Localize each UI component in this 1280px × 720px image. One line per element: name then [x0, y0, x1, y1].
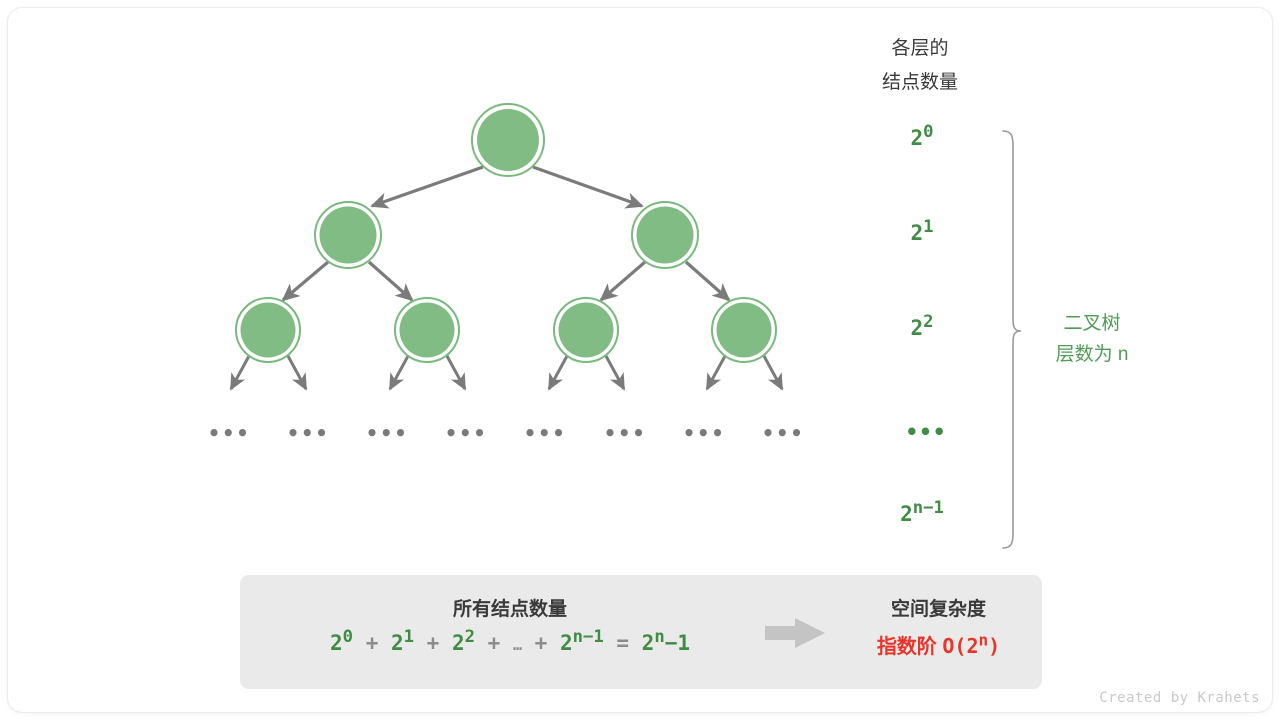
eq-plus-3: + [535, 631, 548, 655]
eq-result: 2n−1 [642, 631, 690, 655]
level-label-0: 20 [910, 126, 933, 150]
level-label-0-base: 2 [910, 126, 923, 150]
brace-note-line2: 层数为 n [1056, 339, 1129, 370]
leaf-ellipsis-2: ••• [366, 421, 409, 445]
complexity-bigo: O(2n) [942, 634, 1000, 658]
column-header-line1: 各层的 [852, 32, 988, 66]
eq-term-last: 2n−1 [560, 631, 604, 655]
column-header: 各层的 结点数量 [852, 32, 988, 100]
leaf-ellipsis-1: ••• [287, 421, 330, 445]
summary-complexity-value: 指数阶 O(2n) [835, 630, 1042, 659]
watermark-credit: Created by Krahets [1099, 690, 1260, 706]
level-label-1-base: 2 [910, 221, 923, 245]
eq-plus-1: + [427, 631, 440, 655]
level-label-2: 22 [910, 316, 933, 340]
summary-total-nodes-title: 所有结点数量 [240, 594, 780, 621]
level-label-2-exp: 2 [923, 312, 933, 332]
eq-plus-0: + [366, 631, 379, 655]
leaf-ellipsis-6: ••• [683, 421, 726, 445]
summary-right: 空间复杂度 指数阶 O(2n) [835, 575, 1042, 689]
brace-note: 二叉树 层数为 n [1056, 308, 1129, 370]
eq-term-1: 21 [391, 631, 414, 655]
figure-canvas: 各层的 结点数量 20 21 22 ••• 2n−1 二叉树 层数为 n •••… [0, 0, 1280, 720]
eq-plus-2: + [488, 631, 501, 655]
eq-equals: = [616, 631, 629, 655]
summary-left: 所有结点数量 20 + 21 + 22 + … + 2n−1 = 2n−1 [240, 575, 780, 689]
eq-ellipsis: … [513, 636, 522, 654]
leaf-ellipsis-3: ••• [445, 421, 488, 445]
complexity-order-label: 指数阶 [877, 636, 937, 658]
level-label-last-exp: n−1 [913, 498, 944, 518]
leaf-ellipsis-4: ••• [524, 421, 567, 445]
leaf-ellipsis-5: ••• [604, 421, 647, 445]
right-arrow-icon [765, 617, 827, 649]
level-label-last-base: 2 [900, 502, 913, 526]
level-label-1-exp: 1 [923, 217, 933, 237]
summary-space-complexity-title: 空间复杂度 [835, 594, 1042, 621]
level-label-last: 2n−1 [900, 502, 944, 526]
level-label-0-exp: 0 [923, 122, 933, 142]
leaf-ellipsis-0: ••• [208, 421, 251, 445]
brace-note-line1: 二叉树 [1056, 308, 1129, 339]
column-header-line2: 结点数量 [852, 66, 988, 100]
level-label-2-base: 2 [910, 316, 923, 340]
summary-panel: 所有结点数量 20 + 21 + 22 + … + 2n−1 = 2n−1 空间… [240, 575, 1042, 689]
leaf-ellipsis-7: ••• [762, 421, 805, 445]
summary-equation: 20 + 21 + 22 + … + 2n−1 = 2n−1 [240, 631, 780, 655]
level-label-ellipsis: ••• [906, 420, 947, 444]
eq-term-0: 20 [330, 631, 353, 655]
level-label-1: 21 [910, 221, 933, 245]
eq-term-2: 22 [452, 631, 475, 655]
